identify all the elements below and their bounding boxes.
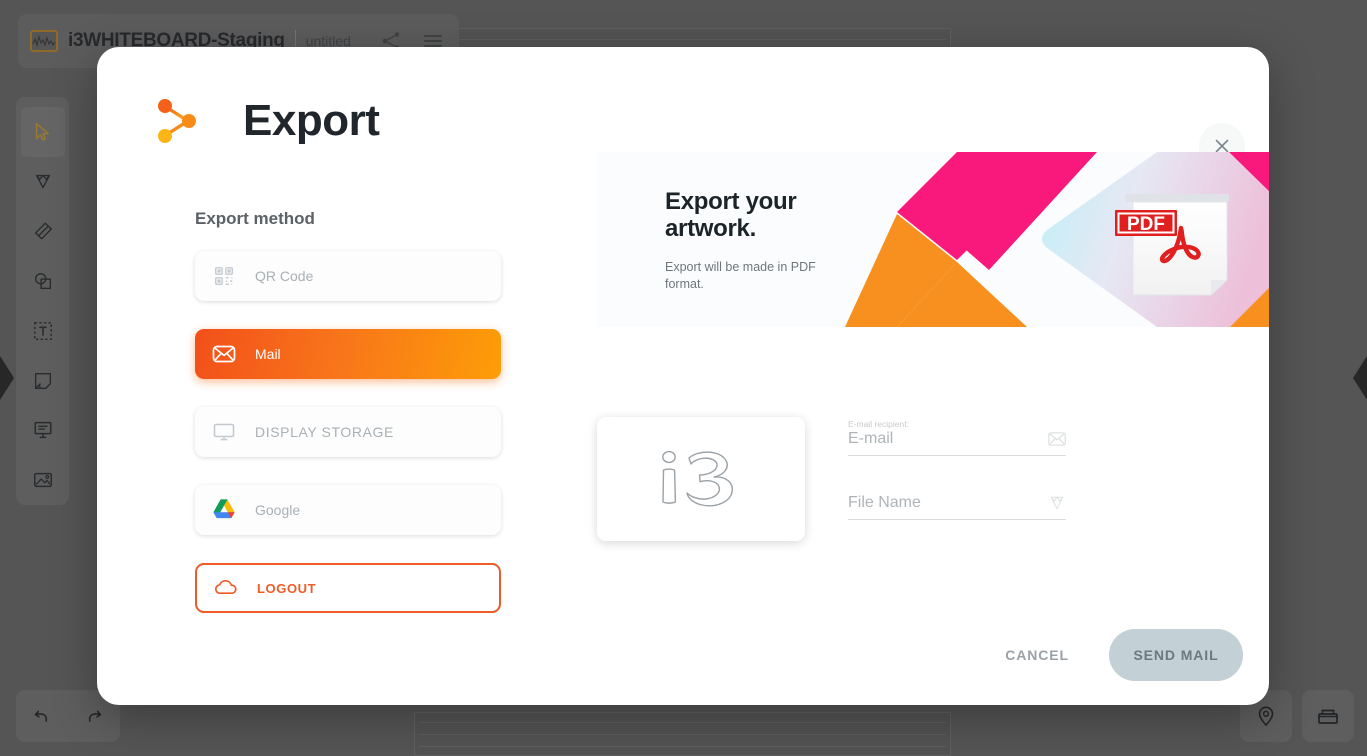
svg-text:PDF: PDF [1127,214,1165,235]
promo-title: Export your artwork. [665,189,816,243]
dialog-title: Export [243,96,379,146]
cancel-button[interactable]: CANCEL [991,637,1083,673]
google-drive-icon [209,495,239,525]
email-field-caption: E-mail recipient: [848,419,1066,429]
export-dialog: Export Export method QR [97,47,1269,705]
monitor-icon [209,417,239,447]
field-spacer [848,456,1066,494]
promo-banner: PDF Export your artwork. Export will be … [597,152,1269,327]
method-label: Google [255,502,300,518]
email-input-placeholder[interactable]: E-mail [848,430,893,448]
method-label: DISPLAY STORAGE [255,424,394,440]
pen-nib-icon [1048,494,1066,512]
export-method-panel: Export method QR Code [195,209,501,613]
envelope-icon [209,339,239,369]
export-method-heading: Export method [195,209,501,229]
promo-subtitle: Export will be made in PDF format. [665,259,816,293]
qr-code-icon [209,261,239,291]
share-nodes-icon [155,95,203,147]
email-field-group: E-mail recipient: E-mail [848,419,1066,456]
method-item-logout[interactable]: LOGOUT [195,563,501,613]
method-label: LOGOUT [257,581,316,596]
file-name-field[interactable]: File Name [848,494,1066,520]
file-name-field-group: File Name [848,494,1066,520]
method-label: Mail [255,346,281,362]
method-item-google[interactable]: Google [195,485,501,535]
method-item-qr-code[interactable]: QR Code [195,251,501,301]
method-label: QR Code [255,268,313,284]
dialog-actions: CANCEL SEND MAIL [991,629,1243,681]
artwork-thumbnail[interactable] [597,417,805,541]
dialog-title-row: Export [155,95,379,147]
send-mail-button[interactable]: SEND MAIL [1109,629,1243,681]
file-name-input-placeholder[interactable]: File Name [848,494,921,512]
promo-text: Export your artwork. Export will be made… [665,189,816,293]
cloud-icon [211,573,241,603]
export-detail-row: E-mail recipient: E-mail [597,417,1066,541]
method-item-display-storage[interactable]: DISPLAY STORAGE [195,407,501,457]
export-detail-panel: PDF Export your artwork. Export will be … [597,152,1269,327]
email-field[interactable]: E-mail [848,430,1066,456]
export-fields: E-mail recipient: E-mail [848,417,1066,520]
envelope-outline-icon [1048,430,1066,448]
i3-sketch-icon [642,440,760,518]
method-item-mail[interactable]: Mail [195,329,501,379]
